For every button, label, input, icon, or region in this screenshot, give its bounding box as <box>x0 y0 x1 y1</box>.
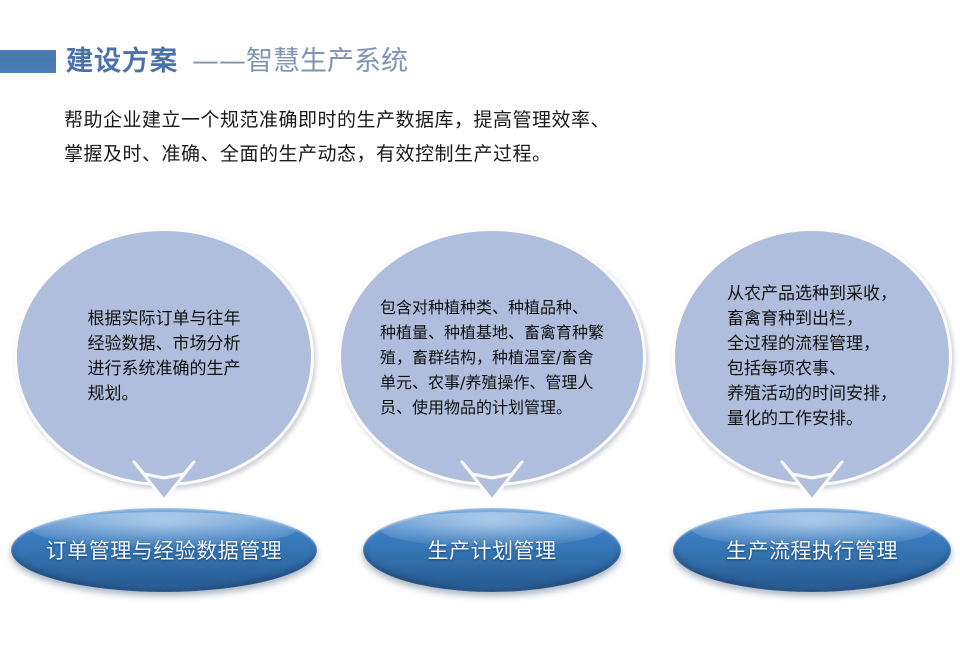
bubble-line: 包括每项农事、 <box>727 357 897 382</box>
pill-wrap-1: 生产计划管理 <box>332 508 652 598</box>
pill-wrap-2: 生产流程执行管理 <box>666 508 958 598</box>
slide-header: 建设方案 —— 智慧生产系统 <box>0 38 960 84</box>
bubble-text-1: 包含对种植种类、种植品种、 种植量、种植基地、畜禽育种繁 殖，畜群结构，种植温室… <box>374 295 610 420</box>
pill-button-order-management[interactable]: 订单管理与经验数据管理 <box>11 508 317 592</box>
bubble-tail-icon-2 <box>780 460 844 502</box>
pill-button-production-plan[interactable]: 生产计划管理 <box>363 508 621 592</box>
bubble-line: 量化的工作安排。 <box>727 407 897 432</box>
header-accent-bar <box>0 50 56 73</box>
pill-button-process-execution[interactable]: 生产流程执行管理 <box>673 508 951 592</box>
pill-label-2: 生产流程执行管理 <box>726 535 898 565</box>
bubble-line: 规划。 <box>88 382 241 407</box>
intro-line-2: 掌握及时、准确、全面的生产动态，有效控制生产过程。 <box>64 137 724 171</box>
intro-paragraph: 帮助企业建立一个规范准确即时的生产数据库，提高管理效率、 掌握及时、准确、全面的… <box>64 103 724 171</box>
bubble-wrap-0: 根据实际订单与往年 经验数据、市场分析 进行系统准确的生产 规划。 <box>8 228 320 500</box>
columns-container: 根据实际订单与往年 经验数据、市场分析 进行系统准确的生产 规划。 订单管理与经… <box>0 228 960 608</box>
bubble-line: 从农产品选种到采收， <box>727 282 897 307</box>
page-title: 建设方案 <box>66 48 178 75</box>
bubble-line: 单元、农事/养殖操作、管理人 <box>380 370 604 395</box>
bubble-line: 种植量、种植基地、畜禽育种繁 <box>380 320 604 345</box>
bubble-line: 殖，畜群结构，种植温室/畜舍 <box>380 345 604 370</box>
pill-label-0: 订单管理与经验数据管理 <box>46 535 283 565</box>
pill-label-1: 生产计划管理 <box>428 535 557 565</box>
bubble-line: 全过程的流程管理， <box>727 332 897 357</box>
column-production-plan: 包含对种植种类、种植品种、 种植量、种植基地、畜禽育种繁 殖，畜群结构，种植温室… <box>332 228 652 608</box>
bubble-line: 包含对种植种类、种植品种、 <box>380 295 604 320</box>
bubble-line: 进行系统准确的生产 <box>88 357 241 382</box>
bubble-tail-icon-1 <box>460 460 524 502</box>
pill-wrap-0: 订单管理与经验数据管理 <box>8 508 320 598</box>
speech-bubble-2: 从农产品选种到采收， 畜禽育种到出栏， 全过程的流程管理， 包括每项农事、 养殖… <box>672 228 952 486</box>
page-subtitle-dash: —— <box>192 48 246 75</box>
bubble-wrap-1: 包含对种植种类、种植品种、 种植量、种植基地、畜禽育种繁 殖，畜群结构，种植温室… <box>332 228 652 500</box>
intro-line-1: 帮助企业建立一个规范准确即时的生产数据库，提高管理效率、 <box>64 103 724 137</box>
bubble-line: 经验数据、市场分析 <box>88 332 241 357</box>
slide-root: 建设方案 —— 智慧生产系统 帮助企业建立一个规范准确即时的生产数据库，提高管理… <box>0 0 960 653</box>
bubble-wrap-2: 从农产品选种到采收， 畜禽育种到出栏， 全过程的流程管理， 包括每项农事、 养殖… <box>666 228 958 500</box>
column-order-management: 根据实际订单与往年 经验数据、市场分析 进行系统准确的生产 规划。 订单管理与经… <box>8 228 320 608</box>
speech-bubble-1: 包含对种植种类、种植品种、 种植量、种植基地、畜禽育种繁 殖，畜群结构，种植温室… <box>338 228 646 486</box>
bubble-text-2: 从农产品选种到采收， 畜禽育种到出栏， 全过程的流程管理， 包括每项农事、 养殖… <box>721 282 903 432</box>
bubble-line: 根据实际订单与往年 <box>88 307 241 332</box>
bubble-line: 畜禽育种到出栏， <box>727 307 897 332</box>
bubble-text-0: 根据实际订单与往年 经验数据、市场分析 进行系统准确的生产 规划。 <box>82 307 247 407</box>
speech-bubble-0: 根据实际订单与往年 经验数据、市场分析 进行系统准确的生产 规划。 <box>14 228 314 486</box>
page-subtitle: 智慧生产系统 <box>246 48 408 75</box>
bubble-line: 员、使用物品的计划管理。 <box>380 395 604 420</box>
column-process-execution: 从农产品选种到采收， 畜禽育种到出栏， 全过程的流程管理， 包括每项农事、 养殖… <box>666 228 958 608</box>
bubble-line: 养殖活动的时间安排， <box>727 382 897 407</box>
bubble-tail-icon-0 <box>132 460 196 502</box>
